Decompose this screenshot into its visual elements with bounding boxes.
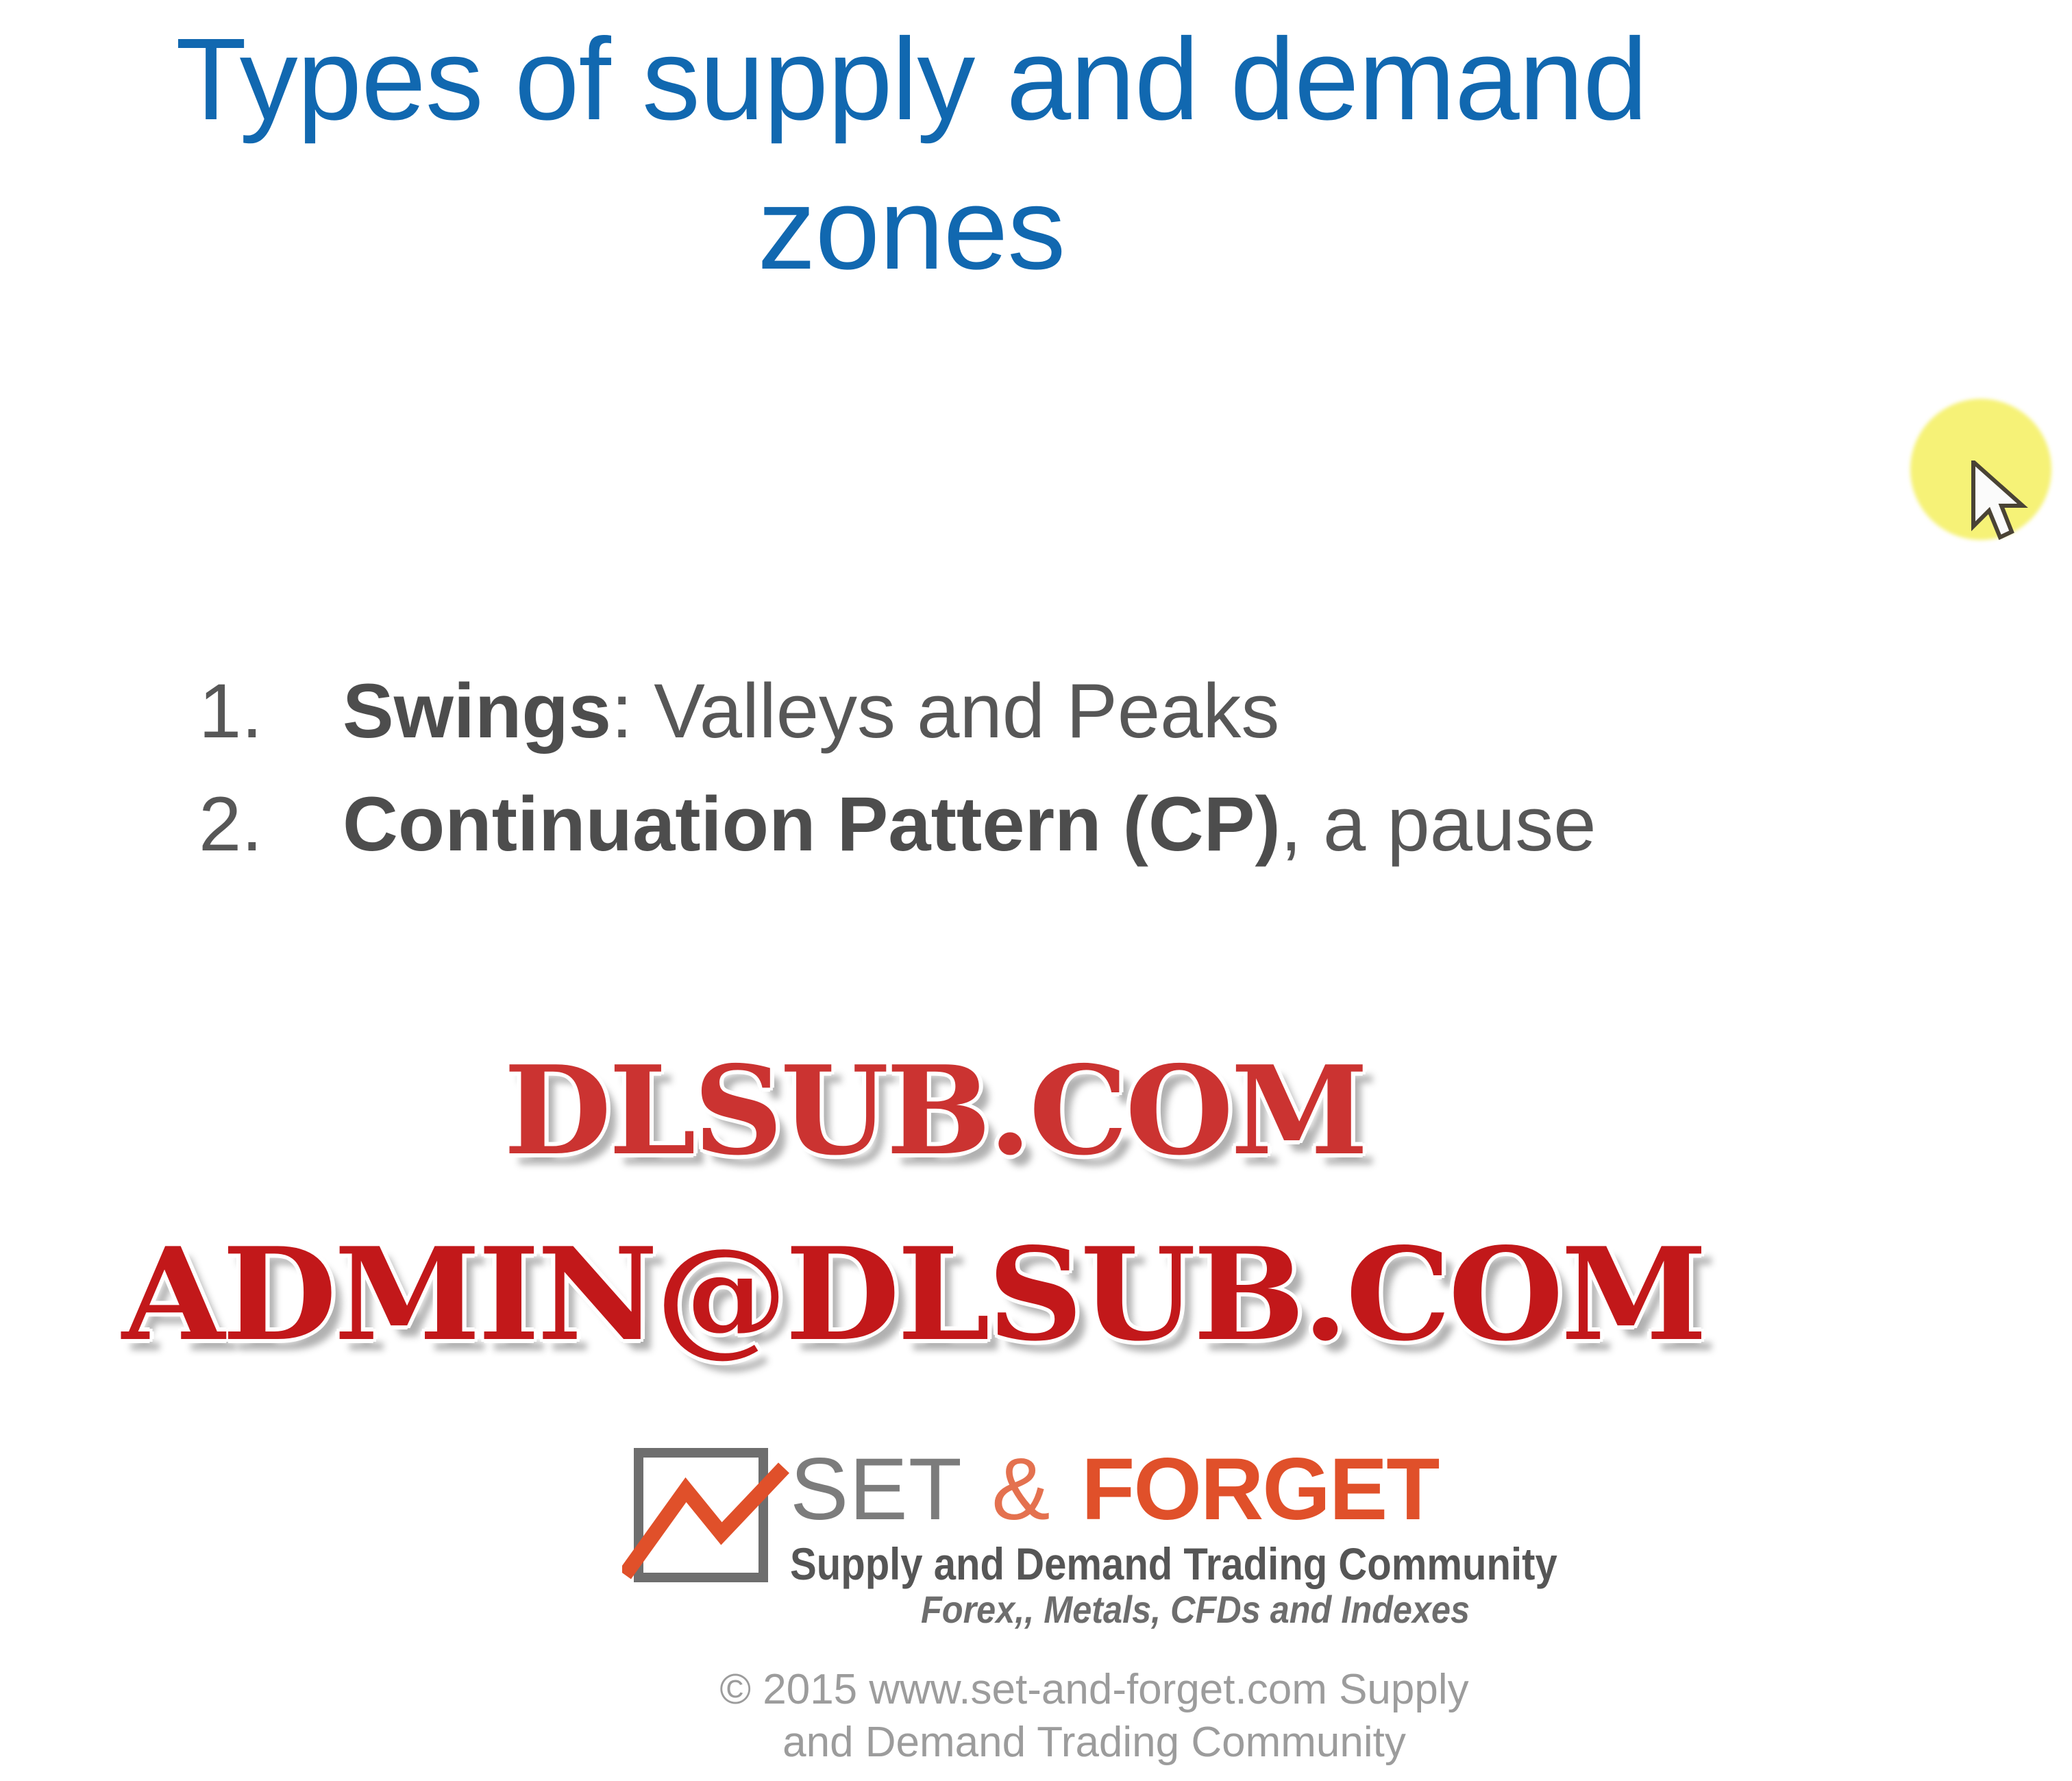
numbered-bullet-list: 1. Swings: Valleys and Peaks 2. Continua…: [199, 668, 2008, 895]
list-item-text: Swings: Valleys and Peaks: [343, 668, 2008, 754]
copyright-line-1: © 2015 www.set-and-forget.com Supply: [591, 1664, 1598, 1717]
logo-subtagline: Forex,, Metals, CFDs and Indexes: [921, 1587, 1470, 1632]
list-item-number: 1.: [199, 668, 343, 754]
list-item-remainder: , a pause: [1281, 781, 1596, 867]
watermark-email: ADMIN@DLSUB.COM: [122, 1219, 1705, 1369]
list-item-emphasis: Swings: [343, 668, 611, 754]
logo-word-amp: &: [986, 1440, 1056, 1538]
logo-wordmark: SET & FORGET: [790, 1446, 1438, 1534]
slide-title: Types of supply and demand zones: [96, 5, 1727, 304]
logo-word-forget: FORGET: [1081, 1440, 1438, 1538]
arrow-pointer-icon: [1971, 460, 2032, 543]
list-item-text: Continuation Pattern (CP), a pause: [343, 781, 2008, 867]
set-and-forget-logo: SET & FORGET Supply and Demand Trading C…: [622, 1447, 1520, 1619]
list-item-number: 2.: [199, 781, 343, 867]
list-item: 2. Continuation Pattern (CP), a pause: [199, 781, 2008, 867]
copyright-line-2: and Demand Trading Community: [591, 1717, 1598, 1769]
logo-word-set: SET: [790, 1440, 961, 1538]
watermark-site: DLSUB.COM: [504, 1039, 1366, 1182]
logo-tagline: Supply and Demand Trading Community: [790, 1538, 1557, 1590]
list-item: 1. Swings: Valleys and Peaks: [199, 668, 2008, 754]
list-item-emphasis: Continuation Pattern (CP): [343, 781, 1281, 867]
line-chart-in-square-icon: [622, 1447, 792, 1583]
copyright-footer: © 2015 www.set-and-forget.com Supply and…: [591, 1664, 1598, 1769]
list-item-remainder: : Valleys and Peaks: [611, 668, 1279, 754]
